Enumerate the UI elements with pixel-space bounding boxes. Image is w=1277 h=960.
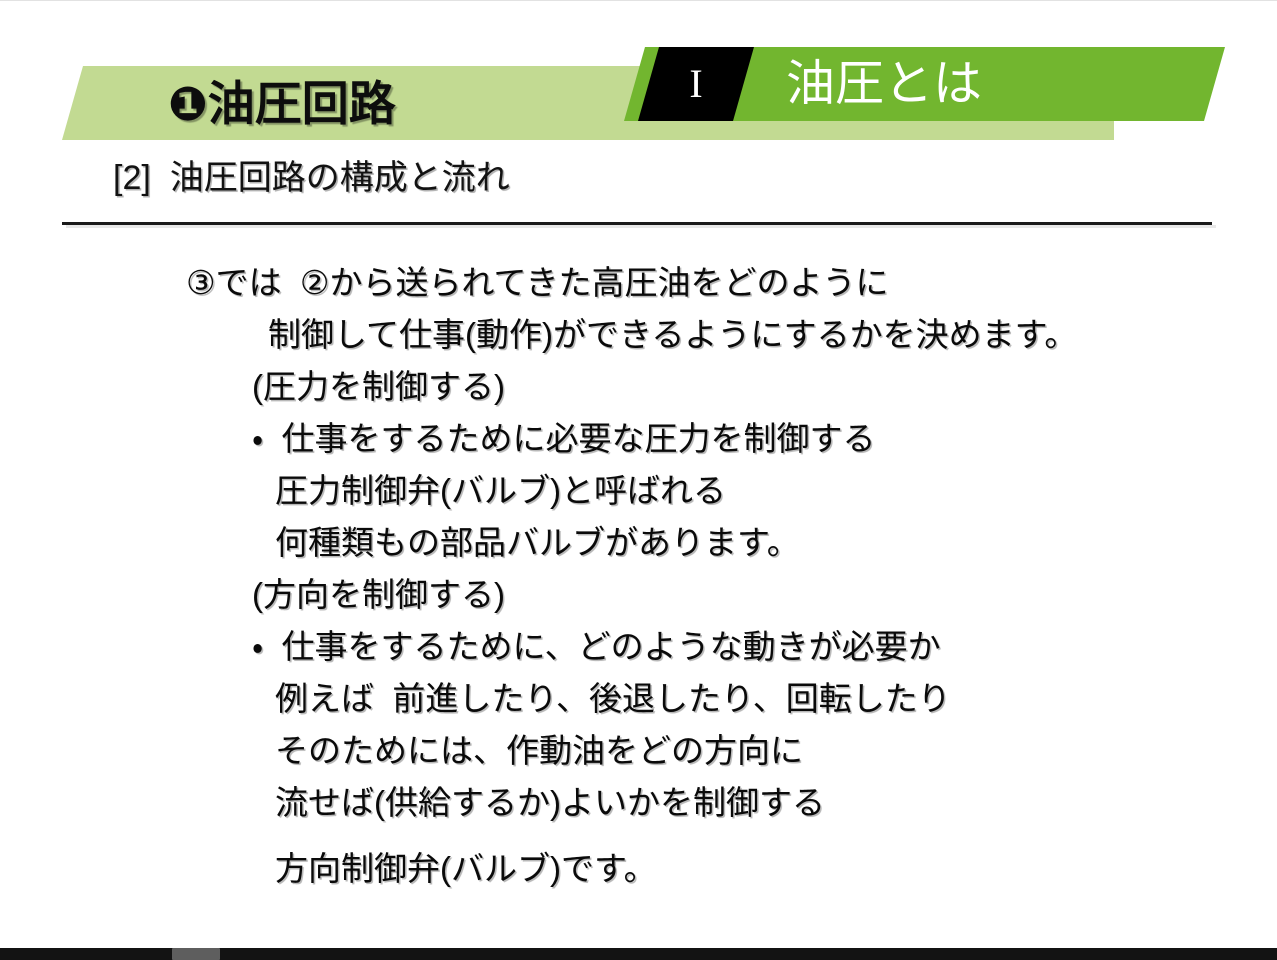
body-text-block: ③では ②から送られてきた高圧油をどのように制御して仕事(動作)ができるようにす… [0,257,1277,895]
section-title: 油圧とは [786,47,982,121]
body-line: ・ 仕事をするために必要な圧力を制御する [0,413,1277,465]
scrollbar-thumb[interactable] [172,948,220,960]
section-numeral: I [638,47,754,121]
slide-canvas: I ❶油圧回路 油圧とは [2] 油圧回路の構成と流れ ③では ②から送られてき… [0,0,1277,960]
body-line: そのためには、作動油をどの方向に [0,725,1277,777]
body-line: 制御して仕事(動作)ができるようにするかを決めます。 [0,309,1277,361]
body-line: 何種類もの部品バルブがあります。 [0,517,1277,569]
body-line: (圧力を制御する) [0,361,1277,413]
bottom-bar [0,948,1277,960]
subtitle-rule-shadow [66,225,1216,228]
body-line: (方向を制御する) [0,569,1277,621]
body-line: 方向制御弁(バルブ)です。 [0,843,1277,895]
subtitle-rule [62,222,1212,225]
chapter-title: ❶油圧回路 [168,66,396,140]
body-line: 流せば(供給するか)よいかを制御する [0,777,1277,829]
page-subtitle: [2] 油圧回路の構成と流れ [113,161,510,195]
body-line: 圧力制御弁(バルブ)と呼ばれる [0,465,1277,517]
header-banner: I ❶油圧回路 油圧とは [0,47,1277,142]
body-line: 例えば 前進したり、後退したり、回転したり [0,673,1277,725]
body-line: ・ 仕事をするために、どのような動きが必要か [0,621,1277,673]
body-line: ③では ②から送られてきた高圧油をどのように [0,257,1277,309]
